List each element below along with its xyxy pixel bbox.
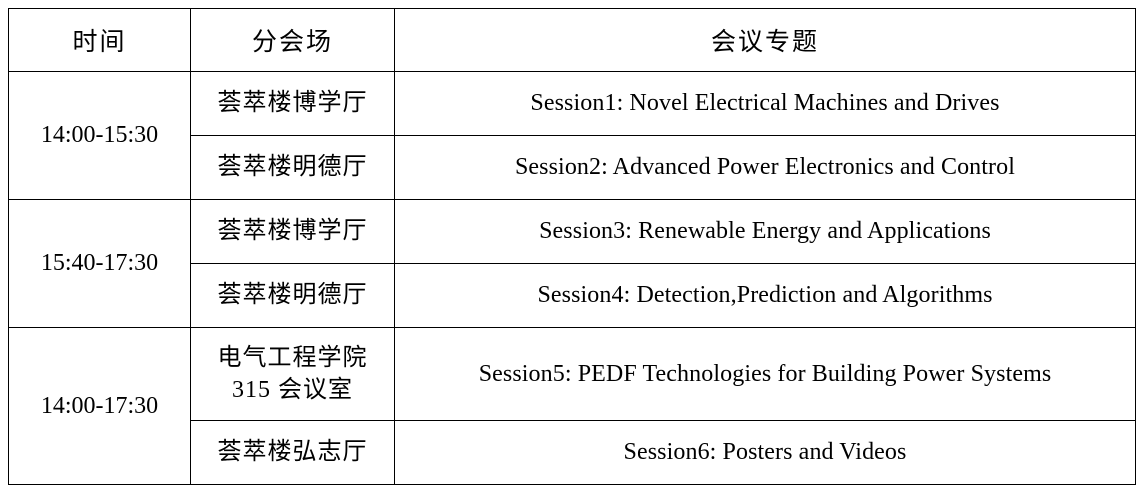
topic-cell: Session6: Posters and Videos [395, 421, 1136, 485]
venue-line: 荟萃楼弘志厅 [195, 436, 390, 468]
time-cell: 14:00-17:30 [9, 328, 191, 485]
venue-line: 荟萃楼博学厅 [195, 215, 390, 247]
venue-line: 电气工程学院 [195, 342, 390, 374]
venue-cell: 荟萃楼弘志厅 [191, 421, 395, 485]
table-row: 15:40-17:30 荟萃楼博学厅 Session3: Renewable E… [9, 200, 1136, 264]
schedule-table-page: 时间 分会场 会议专题 14:00-15:30 荟萃楼博学厅 Session1:… [0, 0, 1146, 481]
topic-cell: Session2: Advanced Power Electronics and… [395, 136, 1136, 200]
table-header: 时间 分会场 会议专题 [9, 9, 1136, 72]
venue-cell: 电气工程学院 315 会议室 [191, 328, 395, 421]
topic-cell: Session1: Novel Electrical Machines and … [395, 72, 1136, 136]
venue-line-secondary: 315 会议室 [195, 374, 390, 406]
column-header-venue: 分会场 [191, 9, 395, 72]
topic-cell: Session3: Renewable Energy and Applicati… [395, 200, 1136, 264]
venue-line: 荟萃楼明德厅 [195, 151, 390, 183]
venue-cell: 荟萃楼明德厅 [191, 136, 395, 200]
venue-cell: 荟萃楼明德厅 [191, 264, 395, 328]
topic-cell: Session5: PEDF Technologies for Building… [395, 328, 1136, 421]
venue-line: 荟萃楼明德厅 [195, 279, 390, 311]
column-header-time: 时间 [9, 9, 191, 72]
venue-cell: 荟萃楼博学厅 [191, 200, 395, 264]
table-row: 14:00-17:30 电气工程学院 315 会议室 Session5: PED… [9, 328, 1136, 421]
time-cell: 14:00-15:30 [9, 72, 191, 200]
column-header-topic: 会议专题 [395, 9, 1136, 72]
venue-line: 荟萃楼博学厅 [195, 87, 390, 119]
venue-cell: 荟萃楼博学厅 [191, 72, 395, 136]
table-body: 14:00-15:30 荟萃楼博学厅 Session1: Novel Elect… [9, 72, 1136, 485]
time-cell: 15:40-17:30 [9, 200, 191, 328]
table-row: 14:00-15:30 荟萃楼博学厅 Session1: Novel Elect… [9, 72, 1136, 136]
conference-schedule-table: 时间 分会场 会议专题 14:00-15:30 荟萃楼博学厅 Session1:… [8, 8, 1136, 485]
topic-cell: Session4: Detection,Prediction and Algor… [395, 264, 1136, 328]
table-header-row: 时间 分会场 会议专题 [9, 9, 1136, 72]
